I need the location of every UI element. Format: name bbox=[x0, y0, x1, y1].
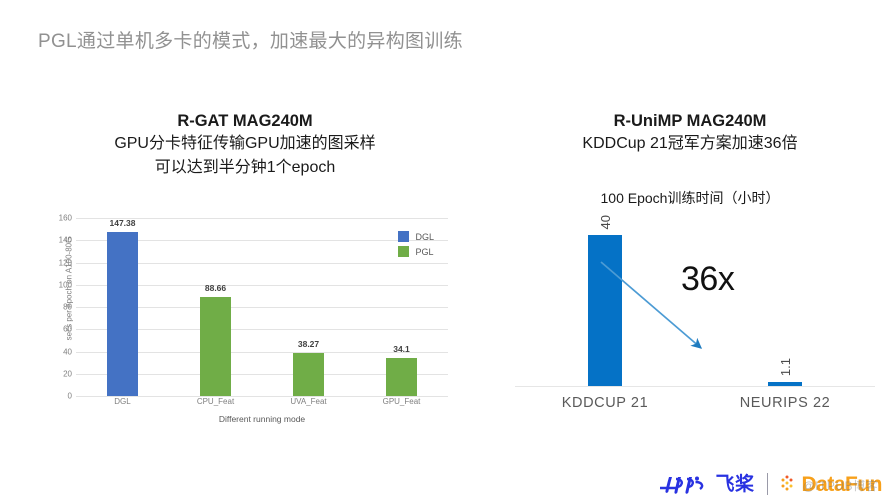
paddlepaddle-logo: 飞桨 bbox=[658, 473, 754, 495]
watermark: @ITPUB博客 bbox=[802, 477, 878, 494]
right-chart-caption: 100 Epoch训练时间（小时） bbox=[495, 188, 885, 208]
left-chart-heading: R-GAT MAG240M GPU分卡特征传输GPU加速的图采样 可以达到半分钟… bbox=[30, 110, 460, 180]
right-chart-bar-group: 1.1 bbox=[695, 220, 875, 387]
legend-swatch-icon bbox=[398, 246, 409, 257]
left-chart-subtitle-line1: GPU分卡特征传输GPU加速的图采样 bbox=[30, 132, 460, 156]
left-chart-y-tick: 160 bbox=[59, 214, 72, 223]
right-chart-title: R-UniMP MAG240M bbox=[495, 110, 885, 132]
legend-label: PGL bbox=[415, 247, 433, 257]
left-chart-y-tick: 0 bbox=[68, 392, 72, 401]
left-chart-y-tick: 40 bbox=[63, 347, 72, 356]
datafun-dots-icon bbox=[780, 474, 800, 494]
right-chart-panel: R-UniMP MAG240M KDDCup 21冠军方案加速36倍 100 E… bbox=[495, 110, 885, 440]
logo-divider bbox=[767, 473, 768, 495]
right-chart-bars: 401.1 bbox=[515, 220, 875, 387]
right-chart-bar-value: 1.1 bbox=[778, 358, 793, 376]
left-chart-bar-group: 147.38 bbox=[76, 218, 169, 396]
left-chart-bar-value: 38.27 bbox=[298, 339, 319, 349]
r-unimp-bar-chart: 401.1 KDDCUP 21NEURIPS 22 bbox=[515, 220, 875, 415]
page-title: PGL通过单机多卡的模式，加速最大的异构图训练 bbox=[38, 26, 463, 53]
left-chart-y-tick: 20 bbox=[63, 369, 72, 378]
left-chart-y-tick: 140 bbox=[59, 236, 72, 245]
left-chart-bar bbox=[386, 358, 417, 396]
left-chart-legend-item: DGL bbox=[398, 231, 434, 242]
left-chart-bars: 147.3888.6638.2734.1 bbox=[76, 218, 448, 396]
left-chart-x-tick: UVA_Feat bbox=[262, 397, 355, 415]
right-chart-x-tick: KDDCUP 21 bbox=[515, 389, 695, 415]
left-chart-bar-value: 147.38 bbox=[110, 218, 136, 228]
left-chart-bar-value: 34.1 bbox=[393, 344, 410, 354]
left-chart-x-tick: GPU_Feat bbox=[355, 397, 448, 415]
left-chart-y-axis-ticks: 160140120100806040200 bbox=[38, 218, 76, 396]
left-chart-panel: R-GAT MAG240M GPU分卡特征传输GPU加速的图采样 可以达到半分钟… bbox=[30, 110, 460, 440]
left-chart-y-tick: 120 bbox=[59, 258, 72, 267]
left-chart-subtitle-line2: 可以达到半分钟1个epoch bbox=[30, 156, 460, 180]
r-gat-bar-chart: secs per epoch on A100-80G 1601401201008… bbox=[38, 218, 448, 438]
right-chart-bar bbox=[588, 235, 622, 387]
left-chart-legend-item: PGL bbox=[398, 246, 434, 257]
left-chart-y-tick: 100 bbox=[59, 280, 72, 289]
left-chart-title: R-GAT MAG240M bbox=[30, 110, 460, 132]
footer: 飞桨 DataFun @ITPUB博客 bbox=[0, 453, 890, 497]
left-chart-bar bbox=[107, 232, 138, 396]
slide-root: PGL通过单机多卡的模式，加速最大的异构图训练 R-GAT MAG240M GP… bbox=[0, 0, 890, 501]
left-chart-y-tick: 80 bbox=[63, 303, 72, 312]
paddle-logo-text: 飞桨 bbox=[715, 475, 754, 494]
right-chart-subtitle-line1: KDDCup 21冠军方案加速36倍 bbox=[495, 132, 885, 156]
left-chart-bar bbox=[200, 297, 231, 396]
right-chart-x-tick: NEURIPS 22 bbox=[695, 389, 875, 415]
left-chart-x-axis-labels: DGLCPU_FeatUVA_FeatGPU_Feat bbox=[76, 397, 448, 415]
right-chart-x-axis-labels: KDDCUP 21NEURIPS 22 bbox=[515, 389, 875, 415]
legend-swatch-icon bbox=[398, 231, 409, 242]
left-chart-bar-group: 38.27 bbox=[262, 218, 355, 396]
left-chart-bar-group: 88.66 bbox=[169, 218, 262, 396]
left-chart-plot-area: 147.3888.6638.2734.1 bbox=[76, 218, 448, 396]
right-chart-bar-value: 40 bbox=[598, 215, 613, 229]
left-chart-x-tick: CPU_Feat bbox=[169, 397, 262, 415]
right-chart-heading: R-UniMP MAG240M KDDCup 21冠军方案加速36倍 bbox=[495, 110, 885, 156]
left-chart-x-tick: DGL bbox=[76, 397, 169, 415]
left-chart-legend: DGLPGL bbox=[394, 228, 442, 264]
legend-label: DGL bbox=[415, 232, 434, 242]
left-chart-y-tick: 60 bbox=[63, 325, 72, 334]
left-chart-bar bbox=[293, 353, 324, 396]
speedup-label: 36x bbox=[681, 260, 734, 299]
left-chart-x-axis-title: Different running mode bbox=[76, 414, 448, 424]
left-chart-bar-value: 88.66 bbox=[205, 283, 226, 293]
right-chart-bar-group: 40 bbox=[515, 220, 695, 387]
paddle-mark-icon bbox=[658, 473, 712, 495]
right-chart-baseline bbox=[515, 386, 875, 387]
